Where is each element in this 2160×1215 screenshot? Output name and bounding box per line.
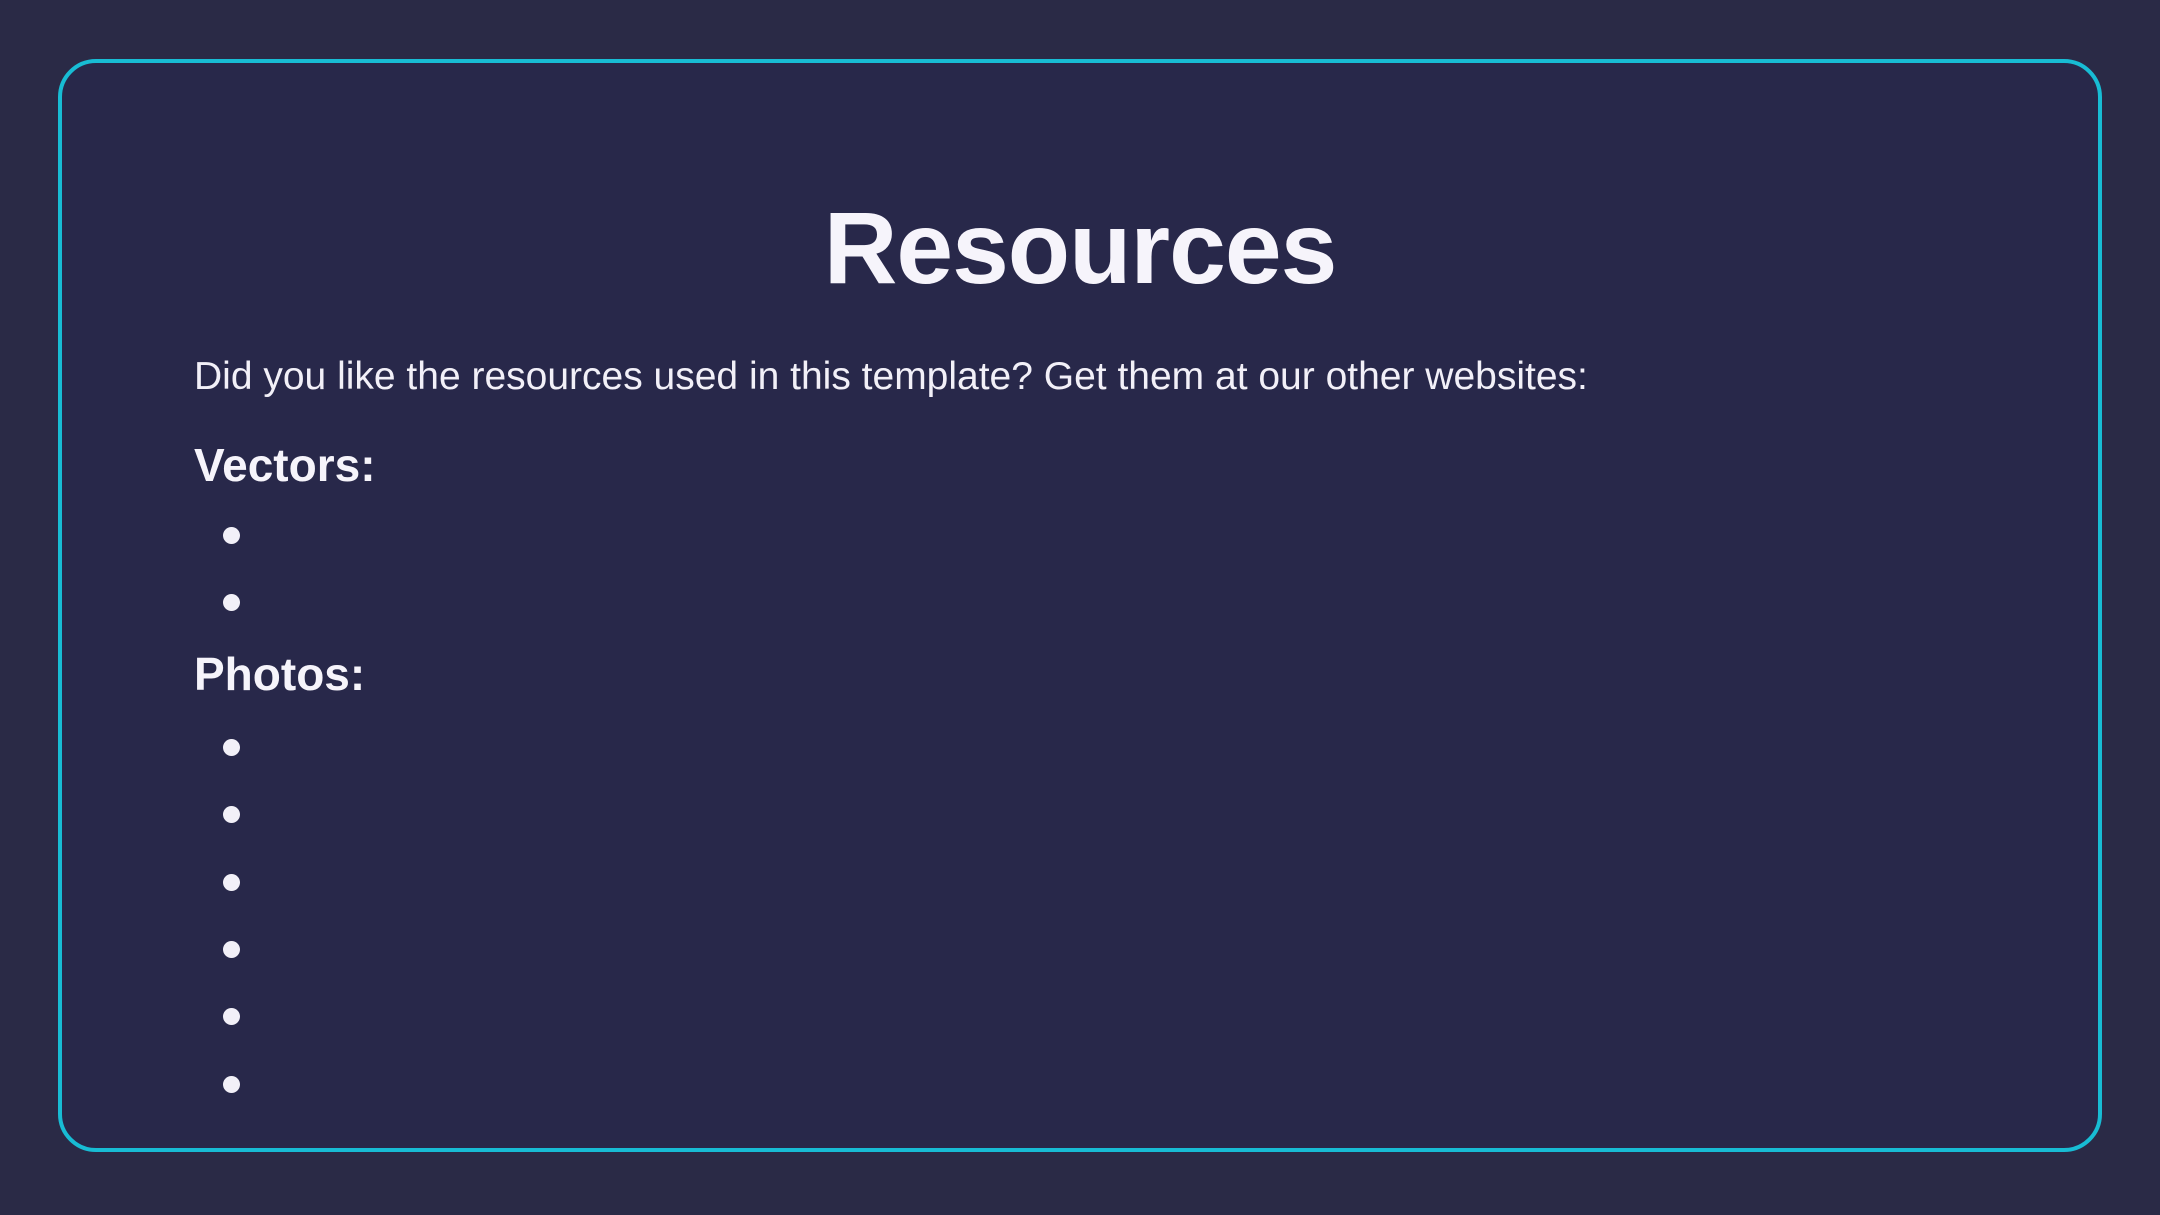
list-item[interactable]: [194, 1004, 2018, 1043]
list-item[interactable]: [194, 590, 2018, 629]
list-item[interactable]: [194, 1072, 2018, 1111]
slide-panel-content: Resources Did you like the resources use…: [62, 63, 2098, 1148]
vectors-list: [194, 523, 2018, 629]
bullet-dot-icon: [223, 806, 240, 823]
page-title: Resources: [62, 191, 2098, 305]
list-item[interactable]: [194, 937, 2018, 976]
bullet-dot-icon: [223, 739, 240, 756]
list-item[interactable]: [194, 523, 2018, 562]
list-item[interactable]: [194, 735, 2018, 774]
section-heading-vectors: Vectors:: [194, 438, 2018, 493]
list-item[interactable]: [194, 802, 2018, 841]
section-heading-photos: Photos:: [194, 647, 2018, 702]
bullet-dot-icon: [223, 594, 240, 611]
bullet-dot-icon: [223, 874, 240, 891]
bullet-dot-icon: [223, 941, 240, 958]
list-item[interactable]: [194, 870, 2018, 909]
intro-paragraph: Did you like the resources used in this …: [194, 353, 2018, 402]
bullet-dot-icon: [223, 1008, 240, 1025]
slide-panel: Resources Did you like the resources use…: [58, 59, 2102, 1152]
slide-canvas: Resources Did you like the resources use…: [0, 0, 2160, 1215]
slide-body: Did you like the resources used in this …: [194, 353, 2018, 1111]
bullet-dot-icon: [223, 527, 240, 544]
photos-list: [194, 735, 2018, 1111]
bullet-dot-icon: [223, 1076, 240, 1093]
